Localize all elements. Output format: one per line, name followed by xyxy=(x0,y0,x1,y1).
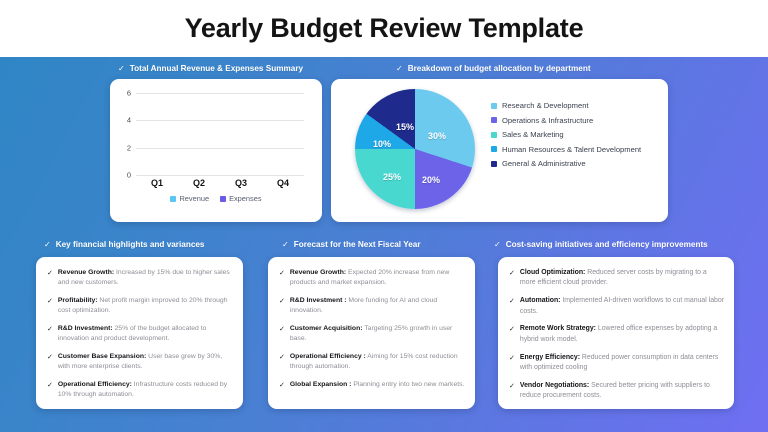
bar-chart: 6 4 2 0 xyxy=(110,79,322,222)
cost-saving-list: ✓ Cloud Optimization: Reduced server cos… xyxy=(509,268,724,409)
header-cost-saving: ✓ Cost-saving initiatives and efficiency… xyxy=(494,240,708,249)
header-budget-allocation-label: Breakdown of budget allocation by depart… xyxy=(408,64,591,73)
check-icon: ✓ xyxy=(44,241,51,249)
check-icon: ✓ xyxy=(279,380,285,391)
check-icon: ✓ xyxy=(279,268,285,288)
header-highlights: ✓ Key financial highlights and variances xyxy=(44,240,205,249)
bar-chart-legend: Revenue Expenses xyxy=(110,194,322,203)
list-item: ✓ Revenue Growth: Expected 20% increase … xyxy=(279,268,465,288)
list-item: ✓ Profitability: Net profit margin impro… xyxy=(47,296,233,316)
y-tick-2: 2 xyxy=(127,143,131,152)
list-item-term: Operational Efficiency : xyxy=(290,353,366,360)
x-tick-q4: Q4 xyxy=(266,178,300,188)
list-item-term: Cloud Optimization: xyxy=(520,269,585,276)
pie-label-sales: 25% xyxy=(383,172,401,182)
pie-label-ga: 15% xyxy=(396,122,414,132)
pie-label-hr: 10% xyxy=(373,139,391,149)
legend-label-sales-marketing: Sales & Marketing xyxy=(502,130,564,139)
check-icon: ✓ xyxy=(509,324,515,345)
legend-item-research-development: Research & Development xyxy=(491,101,641,110)
page-title: Yearly Budget Review Template xyxy=(185,13,584,44)
legend-swatch-revenue xyxy=(170,196,176,202)
check-icon: ✓ xyxy=(118,65,125,73)
check-icon: ✓ xyxy=(509,353,515,374)
list-item: ✓ Operational Efficiency: Infrastructure… xyxy=(47,380,233,400)
list-item: ✓ Vendor Negotiations: Secured better pr… xyxy=(509,381,724,402)
list-item: ✓ R&D Investment : More funding for AI a… xyxy=(279,296,465,316)
pie-chart-legend: Research & Development Operations & Infr… xyxy=(491,101,641,174)
legend-swatch-expenses xyxy=(220,196,226,202)
bar-group-container xyxy=(136,93,304,175)
x-tick-q3: Q3 xyxy=(224,178,258,188)
gridline xyxy=(136,175,304,176)
legend-swatch-research-development xyxy=(491,103,497,109)
legend-swatch-human-resources xyxy=(491,146,497,152)
legend-item-human-resources: Human Resources & Talent Development xyxy=(491,145,641,154)
revenue-expenses-chart-card: 6 4 2 0 xyxy=(110,79,322,222)
bar-plot-area: 6 4 2 0 xyxy=(136,93,304,175)
list-item: ✓ Remote Work Strategy: Lowered office e… xyxy=(509,324,724,345)
list-item: ✓ Automation: Implemented AI-driven work… xyxy=(509,296,724,317)
header-revenue-expenses: ✓ Total Annual Revenue & Expenses Summar… xyxy=(118,64,303,73)
legend-label-operations-infrastructure: Operations & Infrastructure xyxy=(502,116,593,125)
check-icon: ✓ xyxy=(279,352,285,372)
check-icon: ✓ xyxy=(509,268,515,289)
list-item-term: R&D Investment: xyxy=(58,325,113,332)
legend-item-revenue: Revenue xyxy=(170,194,209,203)
list-item-term: Operational Efficiency: xyxy=(58,381,132,388)
legend-label-general-administrative: General & Administrative xyxy=(502,159,586,168)
list-item: ✓ Energy Efficiency: Reduced power consu… xyxy=(509,353,724,374)
forecast-card: ✓ Revenue Growth: Expected 20% increase … xyxy=(268,257,475,409)
legend-item-expenses: Expenses xyxy=(220,194,261,203)
title-band: Yearly Budget Review Template xyxy=(0,0,768,57)
pie-chart xyxy=(355,89,475,209)
legend-label-human-resources: Human Resources & Talent Development xyxy=(502,145,641,154)
pie-label-rd: 30% xyxy=(428,131,446,141)
check-icon: ✓ xyxy=(509,296,515,317)
list-item-text: Planning entry into two new markets. xyxy=(351,381,464,388)
list-item-term: Customer Base Expansion: xyxy=(58,353,146,360)
check-icon: ✓ xyxy=(279,296,285,316)
pie-label-ops: 20% xyxy=(422,175,440,185)
cost-saving-card: ✓ Cloud Optimization: Reduced server cos… xyxy=(498,257,734,409)
legend-item-general-administrative: General & Administrative xyxy=(491,159,641,168)
legend-item-sales-marketing: Sales & Marketing xyxy=(491,130,641,139)
x-axis-labels: Q1 Q2 Q3 Q4 xyxy=(136,178,304,188)
list-item-term: Profitability: xyxy=(58,297,98,304)
list-item: ✓ Global Expansion : Planning entry into… xyxy=(279,380,465,391)
list-item-term: R&D Investment : xyxy=(290,297,347,304)
check-icon: ✓ xyxy=(47,352,53,372)
check-icon: ✓ xyxy=(47,380,53,400)
legend-swatch-operations-infrastructure xyxy=(491,117,497,123)
header-revenue-expenses-label: Total Annual Revenue & Expenses Summary xyxy=(130,64,303,73)
list-item: ✓ R&D Investment: 25% of the budget allo… xyxy=(47,324,233,344)
legend-item-operations-infrastructure: Operations & Infrastructure xyxy=(491,116,641,125)
slide-root: Yearly Budget Review Template ✓ Total An… xyxy=(0,0,768,432)
legend-label-revenue: Revenue xyxy=(179,194,209,203)
list-item: ✓ Revenue Growth: Increased by 15% due t… xyxy=(47,268,233,288)
check-icon: ✓ xyxy=(509,381,515,402)
header-forecast: ✓ Forecast for the Next Fiscal Year xyxy=(282,240,421,249)
check-icon: ✓ xyxy=(282,241,289,249)
check-icon: ✓ xyxy=(494,241,501,249)
y-tick-6: 6 xyxy=(127,89,131,98)
header-budget-allocation: ✓ Breakdown of budget allocation by depa… xyxy=(396,64,591,73)
list-item: ✓ Customer Acquisition: Targeting 25% gr… xyxy=(279,324,465,344)
header-forecast-label: Forecast for the Next Fiscal Year xyxy=(294,240,421,249)
list-item-term: Energy Efficiency: xyxy=(520,354,580,361)
header-highlights-label: Key financial highlights and variances xyxy=(56,240,205,249)
key-financial-highlights-card: ✓ Revenue Growth: Increased by 15% due t… xyxy=(36,257,243,409)
x-tick-q2: Q2 xyxy=(182,178,216,188)
highlights-list: ✓ Revenue Growth: Increased by 15% due t… xyxy=(47,268,233,407)
y-tick-4: 4 xyxy=(127,116,131,125)
x-tick-q1: Q1 xyxy=(140,178,174,188)
list-item-term: Customer Acquisition: xyxy=(290,325,363,332)
legend-swatch-sales-marketing xyxy=(491,132,497,138)
header-cost-saving-label: Cost-saving initiatives and efficiency i… xyxy=(506,240,708,249)
legend-label-expenses: Expenses xyxy=(229,194,261,203)
check-icon: ✓ xyxy=(47,324,53,344)
list-item-term: Revenue Growth: xyxy=(58,269,114,276)
list-item-term: Global Expansion : xyxy=(290,381,352,388)
check-icon: ✓ xyxy=(47,268,53,288)
list-item-term: Automation: xyxy=(520,297,561,304)
list-item: ✓ Customer Base Expansion: User base gre… xyxy=(47,352,233,372)
legend-swatch-general-administrative xyxy=(491,161,497,167)
y-tick-0: 0 xyxy=(127,171,131,180)
list-item: ✓ Cloud Optimization: Reduced server cos… xyxy=(509,268,724,289)
list-item-term: Remote Work Strategy: xyxy=(520,325,596,332)
list-item-term: Vendor Negotiations: xyxy=(520,382,589,389)
list-item: ✓ Operational Efficiency : Aiming for 15… xyxy=(279,352,465,372)
check-icon: ✓ xyxy=(47,296,53,316)
check-icon: ✓ xyxy=(396,65,403,73)
budget-allocation-chart-card: 30% 20% 25% 10% 15% Research & Developme… xyxy=(331,79,668,222)
legend-label-research-development: Research & Development xyxy=(502,101,589,110)
forecast-list: ✓ Revenue Growth: Expected 20% increase … xyxy=(279,268,465,398)
list-item-term: Revenue Growth: xyxy=(290,269,346,276)
check-icon: ✓ xyxy=(279,324,285,344)
